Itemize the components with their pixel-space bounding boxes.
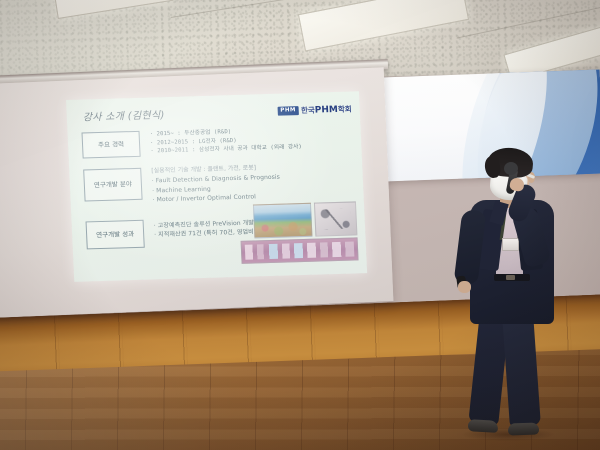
cad-diagram bbox=[314, 201, 358, 236]
belt-buckle bbox=[506, 275, 515, 280]
slide-title: 강사 소개 (김현식) bbox=[82, 106, 165, 123]
shoe-left bbox=[468, 419, 499, 433]
slide-section-content-career: · 2015~ : 두산중공업 (R&D) · 2012~2015 : LG전자… bbox=[149, 126, 302, 156]
patent-certificates-strip bbox=[241, 237, 359, 263]
slide-section-label-rnd-field: 연구개발 분야 bbox=[83, 168, 142, 202]
phm-logo-text: 한국PHM학회 bbox=[301, 104, 352, 116]
hand-left bbox=[458, 281, 471, 293]
lecture-hall-photo: P gi 기술 강좌 실전사례 중심으로 주최 : PHM 한국PHM학회 강사… bbox=[0, 0, 600, 450]
shoe-right bbox=[508, 422, 539, 435]
plant-aerial-photo bbox=[253, 203, 313, 239]
name-badge bbox=[502, 238, 519, 251]
microphone-head-icon bbox=[504, 162, 518, 175]
hair-side bbox=[484, 155, 502, 179]
slide-section-label-rnd-results: 연구개발 성과 bbox=[86, 220, 145, 250]
phm-logo-mark-icon: PHM bbox=[277, 106, 299, 115]
slide-section-content-rnd-field: [실용적인 기술 개발 : 플랜트, 가전, 로봇] · Fault Detec… bbox=[151, 163, 281, 205]
leg-right bbox=[502, 313, 541, 427]
slide-section-label-career: 주요 경력 bbox=[81, 131, 140, 159]
slide-phm-logo: PHM 한국PHM학회 bbox=[277, 104, 352, 117]
speaker bbox=[440, 148, 600, 450]
projected-slide: 강사 소개 (김현식) PHM 한국PHM학회 주요 경력 · 2015~ : … bbox=[66, 91, 367, 282]
